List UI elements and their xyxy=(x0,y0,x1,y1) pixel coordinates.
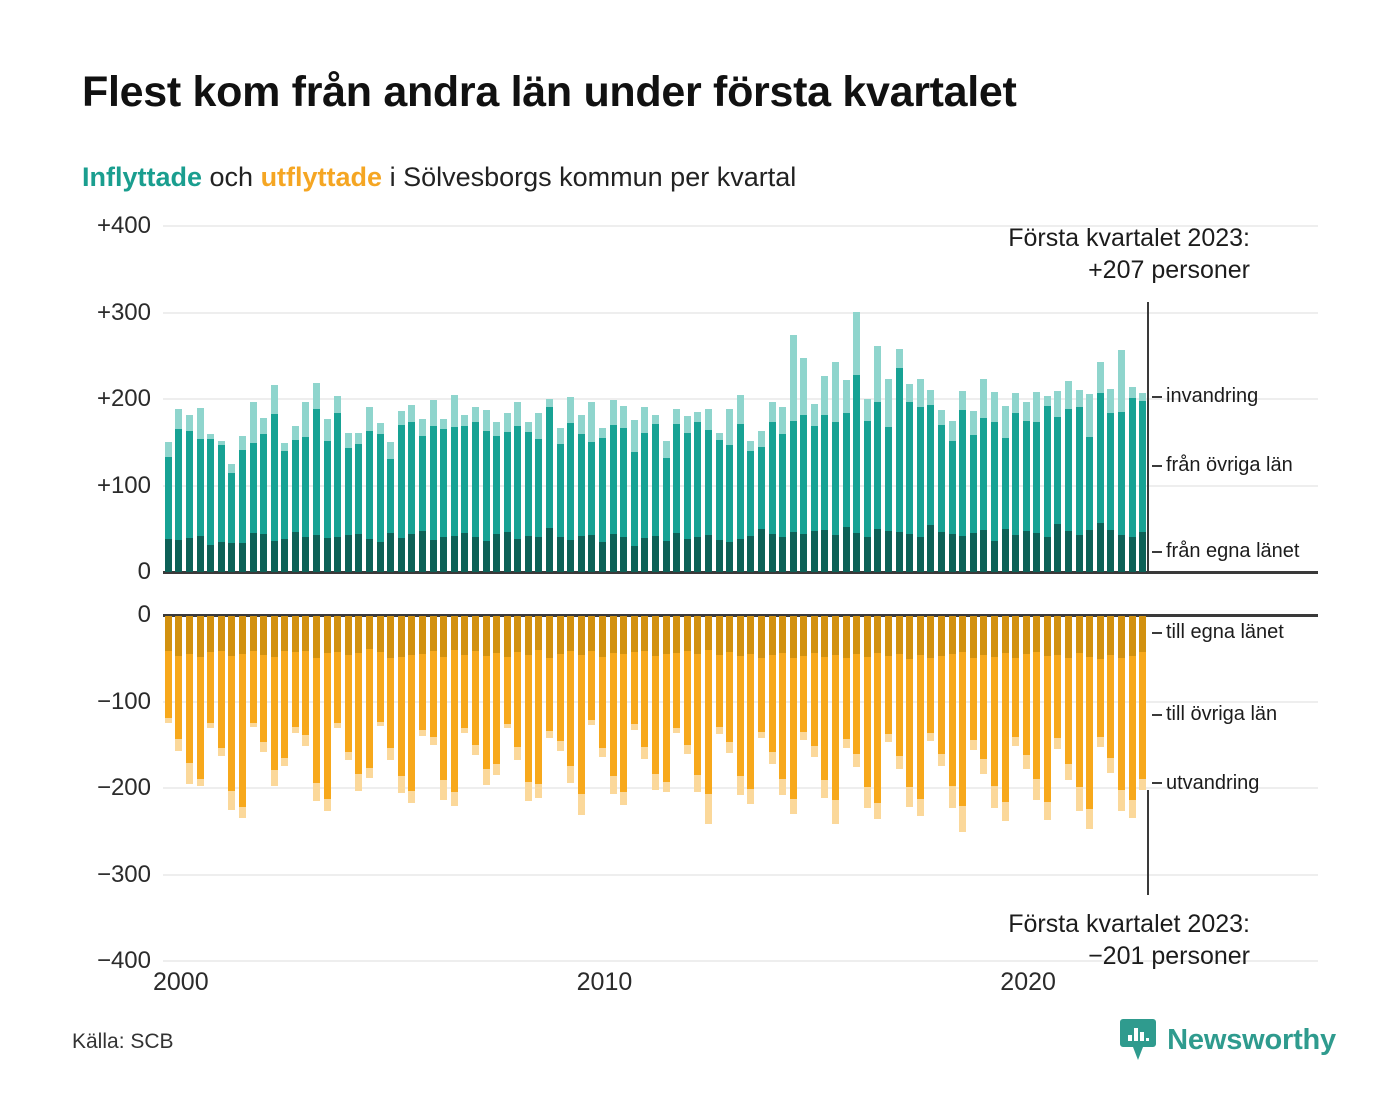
segment-till_egna_lanet xyxy=(959,616,966,652)
segment-fran_egna_lanet xyxy=(302,537,309,572)
segment-fran_egna_lanet xyxy=(398,538,405,572)
bar-inflyttade xyxy=(345,433,352,572)
bar-utflyttade xyxy=(811,616,818,757)
segment-invandring xyxy=(737,395,744,424)
segment-fran_ovriga_lan xyxy=(186,431,193,538)
segment-till_ovriga_lan xyxy=(758,658,765,732)
segment-invandring xyxy=(260,418,267,434)
bar-utflyttade xyxy=(641,616,648,759)
segment-utvandring xyxy=(186,763,193,784)
bar-inflyttade xyxy=(493,422,500,572)
segment-fran_ovriga_lan xyxy=(588,442,595,535)
segment-till_egna_lanet xyxy=(631,616,638,652)
segment-till_egna_lanet xyxy=(430,616,437,651)
segment-till_ovriga_lan xyxy=(207,652,214,723)
segment-fran_ovriga_lan xyxy=(896,368,903,532)
segment-invandring xyxy=(514,402,521,426)
segment-fran_ovriga_lan xyxy=(483,431,490,541)
segment-invandring xyxy=(493,422,500,437)
segment-invandring xyxy=(1002,406,1009,438)
segment-utvandring xyxy=(493,764,500,775)
bar-utflyttade xyxy=(461,616,468,733)
bar-utflyttade xyxy=(1012,616,1019,746)
series-label-till-ovriga-lan: till övriga län xyxy=(1152,703,1277,726)
segment-invandring xyxy=(896,349,903,368)
segment-fran_ovriga_lan xyxy=(292,440,299,533)
bar-utflyttade xyxy=(906,616,913,807)
segment-utvandring xyxy=(408,791,415,803)
segment-invandring xyxy=(461,415,468,426)
segment-invandring xyxy=(1107,389,1114,413)
bar-inflyttade xyxy=(461,415,468,572)
bar-utflyttade xyxy=(430,616,437,745)
segment-invandring xyxy=(588,402,595,442)
newsworthy-logo-text: Newsworthy xyxy=(1167,1024,1336,1057)
segment-utvandring xyxy=(546,731,553,738)
bar-inflyttade xyxy=(610,400,617,572)
segment-till_ovriga_lan xyxy=(377,652,384,721)
bar-utflyttade xyxy=(398,616,405,793)
segment-utvandring xyxy=(610,776,617,794)
segment-fran_ovriga_lan xyxy=(843,413,850,527)
segment-fran_egna_lanet xyxy=(1023,531,1030,572)
segment-fran_egna_lanet xyxy=(864,537,871,572)
bar-utflyttade xyxy=(874,616,881,819)
segment-till_ovriga_lan xyxy=(821,657,828,781)
bar-inflyttade xyxy=(1107,389,1114,572)
bar-inflyttade xyxy=(790,335,797,572)
segment-invandring xyxy=(832,362,839,423)
segment-fran_ovriga_lan xyxy=(165,457,172,539)
segment-fran_egna_lanet xyxy=(1002,529,1009,572)
source-note: Källa: SCB xyxy=(72,1030,174,1054)
bar-utflyttade xyxy=(514,616,521,760)
segment-fran_egna_lanet xyxy=(535,537,542,572)
segment-utvandring xyxy=(218,748,225,756)
segment-till_egna_lanet xyxy=(366,616,373,649)
bar-utflyttade xyxy=(1065,616,1072,780)
bar-utflyttade xyxy=(493,616,500,775)
segment-fran_ovriga_lan xyxy=(408,422,415,534)
segment-till_ovriga_lan xyxy=(1054,655,1061,738)
bar-inflyttade xyxy=(313,383,320,572)
bar-inflyttade xyxy=(896,349,903,572)
segment-invandring xyxy=(652,415,659,425)
segment-till_ovriga_lan xyxy=(514,652,521,747)
segment-invandring xyxy=(440,419,447,429)
bar-inflyttade xyxy=(758,431,765,572)
bar-inflyttade xyxy=(1129,387,1136,572)
segment-fran_ovriga_lan xyxy=(641,433,648,539)
segment-fran_ovriga_lan xyxy=(599,438,606,542)
segment-fran_ovriga_lan xyxy=(440,429,447,537)
bar-inflyttade xyxy=(620,406,627,572)
segment-fran_ovriga_lan xyxy=(1023,421,1030,532)
segment-fran_ovriga_lan xyxy=(250,443,257,533)
segment-fran_egna_lanet xyxy=(980,530,987,572)
segment-till_ovriga_lan xyxy=(546,658,553,732)
segment-till_ovriga_lan xyxy=(991,657,998,787)
segment-fran_egna_lanet xyxy=(461,533,468,572)
segment-till_egna_lanet xyxy=(811,616,818,653)
segment-fran_ovriga_lan xyxy=(694,422,701,537)
segment-fran_ovriga_lan xyxy=(959,410,966,535)
segment-till_egna_lanet xyxy=(1054,616,1061,655)
bar-utflyttade xyxy=(1086,616,1093,829)
bar-utflyttade xyxy=(302,616,309,746)
bar-inflyttade xyxy=(938,410,945,572)
segment-till_ovriga_lan xyxy=(927,658,934,733)
segment-fran_ovriga_lan xyxy=(885,427,892,532)
chart-canvas: +400+300+200+10000−100−200−300−400200020… xyxy=(0,0,1400,1120)
segment-till_egna_lanet xyxy=(472,616,479,651)
segment-till_egna_lanet xyxy=(461,616,468,655)
segment-till_egna_lanet xyxy=(1012,616,1019,658)
segment-fran_egna_lanet xyxy=(387,533,394,572)
segment-utvandring xyxy=(260,742,267,752)
segment-fran_ovriga_lan xyxy=(567,423,574,540)
segment-fran_egna_lanet xyxy=(800,534,807,572)
leader-dash xyxy=(1152,465,1162,467)
segment-invandring xyxy=(292,426,299,440)
segment-till_egna_lanet xyxy=(260,616,267,655)
bar-inflyttade xyxy=(387,442,394,572)
segment-till_ovriga_lan xyxy=(885,656,892,734)
segment-fran_egna_lanet xyxy=(917,537,924,572)
segment-till_egna_lanet xyxy=(197,616,204,657)
bar-inflyttade xyxy=(779,407,786,572)
segment-fran_egna_lanet xyxy=(430,540,437,572)
segment-till_ovriga_lan xyxy=(1044,656,1051,802)
segment-fran_ovriga_lan xyxy=(652,424,659,536)
bar-utflyttade xyxy=(451,616,458,806)
segment-fran_ovriga_lan xyxy=(260,434,267,533)
bar-inflyttade xyxy=(1076,390,1083,572)
segment-fran_ovriga_lan xyxy=(228,473,235,542)
segment-till_ovriga_lan xyxy=(334,652,341,723)
segment-fran_egna_lanet xyxy=(726,542,733,572)
bar-utflyttade xyxy=(546,616,553,738)
segment-invandring xyxy=(853,312,860,375)
x-tick-2020: 2020 xyxy=(1000,968,1056,997)
segment-invandring xyxy=(1012,393,1019,413)
segment-utvandring xyxy=(758,732,765,738)
bar-utflyttade xyxy=(366,616,373,778)
bar-utflyttade xyxy=(588,616,595,725)
segment-invandring xyxy=(197,408,204,439)
segment-till_egna_lanet xyxy=(504,616,511,657)
bar-inflyttade xyxy=(1012,393,1019,572)
bar-inflyttade xyxy=(970,411,977,572)
segment-till_egna_lanet xyxy=(567,616,574,651)
bar-inflyttade xyxy=(716,433,723,572)
segment-till_ovriga_lan xyxy=(324,653,331,798)
segment-fran_egna_lanet xyxy=(737,539,744,572)
segment-fran_ovriga_lan xyxy=(355,444,362,534)
segment-fran_ovriga_lan xyxy=(197,439,204,536)
bar-utflyttade xyxy=(1139,616,1146,790)
segment-invandring xyxy=(1139,393,1146,401)
segment-till_egna_lanet xyxy=(271,616,278,657)
segment-fran_ovriga_lan xyxy=(345,448,352,535)
bar-utflyttade xyxy=(1023,616,1030,769)
segment-invandring xyxy=(1054,391,1061,417)
segment-utvandring xyxy=(631,724,638,730)
segment-fran_egna_lanet xyxy=(366,539,373,572)
segment-till_ovriga_lan xyxy=(483,656,490,769)
segment-utvandring xyxy=(673,728,680,733)
segment-utvandring xyxy=(716,727,723,734)
segment-fran_ovriga_lan xyxy=(218,445,225,542)
segment-fran_egna_lanet xyxy=(588,535,595,572)
segment-fran_egna_lanet xyxy=(250,533,257,572)
segment-fran_egna_lanet xyxy=(525,536,532,572)
bar-inflyttade xyxy=(525,422,532,573)
bar-inflyttade xyxy=(1118,350,1125,572)
series-label-till-egna-lanet: till egna länet xyxy=(1152,621,1284,644)
segment-till_egna_lanet xyxy=(599,616,606,657)
segment-till_egna_lanet xyxy=(292,616,299,652)
bar-inflyttade xyxy=(408,405,415,572)
segment-invandring xyxy=(705,409,712,430)
segment-utvandring xyxy=(1033,779,1040,800)
bar-utflyttade xyxy=(970,616,977,750)
bar-inflyttade xyxy=(472,407,479,572)
bar-utflyttade xyxy=(324,616,331,811)
segment-till_egna_lanet xyxy=(832,616,839,655)
bar-inflyttade xyxy=(853,312,860,572)
segment-till_egna_lanet xyxy=(557,616,564,654)
segment-utvandring xyxy=(949,786,956,808)
segment-utvandring xyxy=(504,724,511,728)
bar-utflyttade xyxy=(1129,616,1136,818)
segment-till_egna_lanet xyxy=(726,616,733,652)
bar-inflyttade xyxy=(483,410,490,572)
segment-utvandring xyxy=(896,756,903,769)
segment-till_egna_lanet xyxy=(1065,616,1072,658)
bar-utflyttade xyxy=(620,616,627,805)
segment-till_egna_lanet xyxy=(610,616,617,653)
bar-inflyttade xyxy=(1097,362,1104,572)
bar-utflyttade xyxy=(896,616,903,769)
bar-inflyttade xyxy=(567,397,574,572)
segment-invandring xyxy=(843,380,850,413)
segment-till_ovriga_lan xyxy=(1086,657,1093,809)
segment-invandring xyxy=(535,413,542,439)
segment-till_egna_lanet xyxy=(281,616,288,651)
segment-till_egna_lanet xyxy=(334,616,341,652)
segment-till_egna_lanet xyxy=(949,616,956,654)
segment-fran_ovriga_lan xyxy=(663,458,670,541)
segment-invandring xyxy=(684,416,691,432)
segment-invandring xyxy=(874,346,881,402)
segment-till_egna_lanet xyxy=(938,616,945,656)
y-tick-top-0: 0 xyxy=(138,558,151,586)
segment-invandring xyxy=(557,428,564,444)
segment-fran_ovriga_lan xyxy=(461,426,468,533)
segment-fran_ovriga_lan xyxy=(821,415,828,530)
segment-utvandring xyxy=(917,799,924,816)
y-tick-top-+100: +100 xyxy=(97,472,151,500)
segment-fran_ovriga_lan xyxy=(493,436,500,534)
segment-till_ovriga_lan xyxy=(599,657,606,749)
bar-inflyttade xyxy=(557,428,564,572)
bar-inflyttade xyxy=(843,380,850,572)
segment-fran_egna_lanet xyxy=(514,539,521,572)
segment-fran_ovriga_lan xyxy=(430,426,437,540)
bar-utflyttade xyxy=(218,616,225,756)
segment-till_ovriga_lan xyxy=(186,654,193,763)
segment-fran_ovriga_lan xyxy=(684,433,691,539)
segment-till_ovriga_lan xyxy=(864,657,871,788)
bar-inflyttade xyxy=(1044,396,1051,572)
segment-utvandring xyxy=(197,779,204,786)
segment-fran_ovriga_lan xyxy=(525,432,532,536)
segment-fran_egna_lanet xyxy=(281,539,288,572)
segment-fran_egna_lanet xyxy=(186,538,193,572)
segment-till_egna_lanet xyxy=(419,616,426,654)
bar-inflyttade xyxy=(906,384,913,572)
segment-invandring xyxy=(949,421,956,442)
segment-till_egna_lanet xyxy=(684,616,691,651)
segment-utvandring xyxy=(1139,779,1146,789)
segment-invandring xyxy=(302,402,309,437)
bar-utflyttade xyxy=(832,616,839,824)
bar-inflyttade xyxy=(398,411,405,572)
segment-fran_ovriga_lan xyxy=(737,424,744,539)
segment-till_egna_lanet xyxy=(451,616,458,650)
bar-utflyttade xyxy=(959,616,966,832)
segment-fran_ovriga_lan xyxy=(1086,437,1093,530)
bar-utflyttade xyxy=(207,616,214,728)
bar-inflyttade xyxy=(1002,406,1009,572)
bar-utflyttade xyxy=(186,616,193,784)
segment-fran_egna_lanet xyxy=(1012,535,1019,572)
segment-till_egna_lanet xyxy=(324,616,331,653)
segment-invandring xyxy=(377,423,384,434)
segment-fran_egna_lanet xyxy=(769,534,776,572)
segment-till_egna_lanet xyxy=(769,616,776,655)
segment-utvandring xyxy=(461,728,468,733)
segment-invandring xyxy=(811,404,818,426)
segment-till_ovriga_lan xyxy=(313,658,320,783)
segment-fran_egna_lanet xyxy=(239,543,246,572)
segment-utvandring xyxy=(980,759,987,775)
segment-invandring xyxy=(927,390,934,406)
segment-invandring xyxy=(366,407,373,431)
segment-utvandring xyxy=(440,780,447,800)
segment-fran_egna_lanet xyxy=(853,533,860,572)
segment-till_ovriga_lan xyxy=(461,655,468,728)
segment-invandring xyxy=(1076,390,1083,406)
segment-till_egna_lanet xyxy=(758,616,765,658)
segment-fran_egna_lanet xyxy=(271,541,278,572)
segment-invandring xyxy=(1023,402,1030,421)
segment-till_ovriga_lan xyxy=(197,657,204,779)
bar-utflyttade xyxy=(599,616,606,757)
segment-fran_egna_lanet xyxy=(355,534,362,572)
segment-till_egna_lanet xyxy=(535,616,542,650)
segment-fran_egna_lanet xyxy=(938,532,945,572)
segment-invandring xyxy=(1118,350,1125,412)
bar-utflyttade xyxy=(949,616,956,808)
newsworthy-logo-icon xyxy=(1119,1018,1157,1062)
segment-fran_ovriga_lan xyxy=(790,421,797,533)
segment-fran_egna_lanet xyxy=(1054,524,1061,572)
y-tick-top-+400: +400 xyxy=(97,212,151,240)
bar-inflyttade xyxy=(599,428,606,572)
segment-fran_ovriga_lan xyxy=(864,421,871,537)
bar-inflyttade xyxy=(885,379,892,572)
bar-utflyttade xyxy=(684,616,691,754)
segment-fran_egna_lanet xyxy=(694,537,701,572)
segment-till_ovriga_lan xyxy=(938,656,945,754)
segment-utvandring xyxy=(281,758,288,766)
segment-till_ovriga_lan xyxy=(525,655,532,782)
segment-fran_egna_lanet xyxy=(546,528,553,572)
segment-invandring xyxy=(525,422,532,432)
bar-inflyttade xyxy=(769,402,776,572)
segment-till_ovriga_lan xyxy=(779,653,786,778)
segment-invandring xyxy=(864,399,871,421)
bar-utflyttade xyxy=(747,616,754,804)
annotation-top-leader xyxy=(1147,302,1149,572)
segment-fran_egna_lanet xyxy=(557,537,564,572)
segment-fran_ovriga_lan xyxy=(970,435,977,533)
bar-inflyttade xyxy=(1086,394,1093,572)
segment-till_egna_lanet xyxy=(991,616,998,657)
segment-invandring xyxy=(1097,362,1104,393)
bar-utflyttade xyxy=(705,616,712,824)
segment-till_ovriga_lan xyxy=(832,655,839,800)
y-tick-bottom-0: 0 xyxy=(138,601,151,629)
segment-fran_ovriga_lan xyxy=(324,441,331,539)
segment-till_ovriga_lan xyxy=(440,657,447,781)
segment-fran_ovriga_lan xyxy=(938,425,945,532)
segment-till_egna_lanet xyxy=(927,616,934,658)
segment-fran_ovriga_lan xyxy=(758,447,765,529)
segment-fran_egna_lanet xyxy=(991,541,998,572)
segment-till_ovriga_lan xyxy=(504,657,511,724)
leader-dash xyxy=(1152,782,1162,784)
segment-invandring xyxy=(165,442,172,457)
bar-inflyttade xyxy=(959,391,966,572)
segment-fran_ovriga_lan xyxy=(1139,401,1146,532)
segment-till_ovriga_lan xyxy=(1118,658,1125,790)
series-label-utvandring-text: utvandring xyxy=(1166,772,1259,794)
segment-fran_egna_lanet xyxy=(419,531,426,572)
segment-till_egna_lanet xyxy=(313,616,320,658)
segment-till_ovriga_lan xyxy=(874,653,881,803)
segment-utvandring xyxy=(472,745,479,755)
bar-utflyttade xyxy=(652,616,659,790)
segment-utvandring xyxy=(821,780,828,798)
segment-utvandring xyxy=(557,741,564,751)
bar-utflyttade xyxy=(790,616,797,814)
segment-till_egna_lanet xyxy=(440,616,447,657)
bar-inflyttade xyxy=(228,464,235,572)
bar-inflyttade xyxy=(800,358,807,573)
bar-utflyttade xyxy=(557,616,564,751)
segment-utvandring xyxy=(387,748,394,759)
segment-invandring xyxy=(1065,381,1072,409)
segment-utvandring xyxy=(1054,738,1061,749)
segment-till_ovriga_lan xyxy=(1033,652,1040,779)
segment-till_ovriga_lan xyxy=(620,654,627,792)
segment-till_ovriga_lan xyxy=(1023,654,1030,755)
bar-utflyttade xyxy=(472,616,479,755)
segment-utvandring xyxy=(430,737,437,745)
